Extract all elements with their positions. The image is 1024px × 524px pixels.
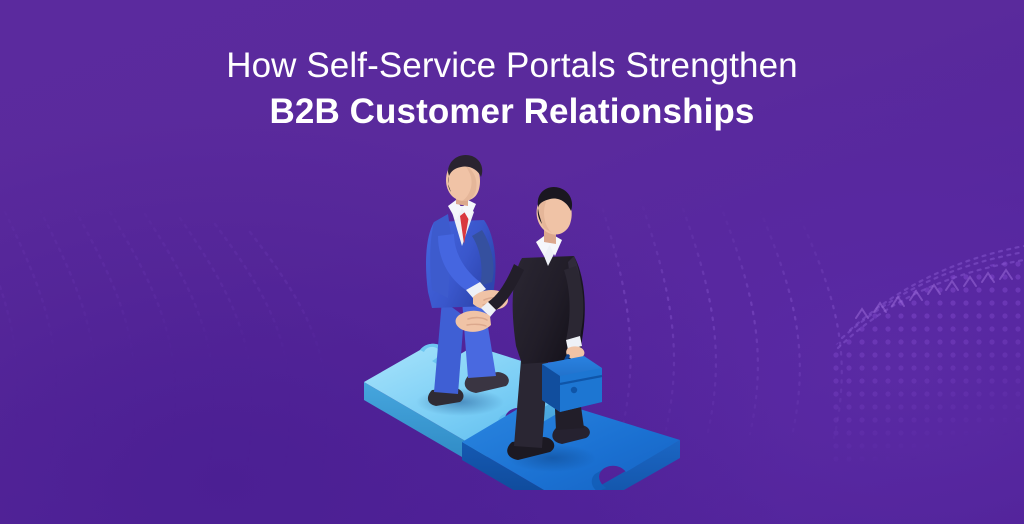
briefcase-icon <box>542 356 602 412</box>
page-title: How Self-Service Portals Strengthen B2B … <box>0 44 1024 136</box>
title-line-one: How Self-Service Portals Strengthen <box>0 44 1024 88</box>
banner: How Self-Service Portals Strengthen B2B … <box>0 0 1024 524</box>
handshake-puzzle-illustration <box>356 150 686 490</box>
title-line-two: B2B Customer Relationships <box>0 88 1024 136</box>
